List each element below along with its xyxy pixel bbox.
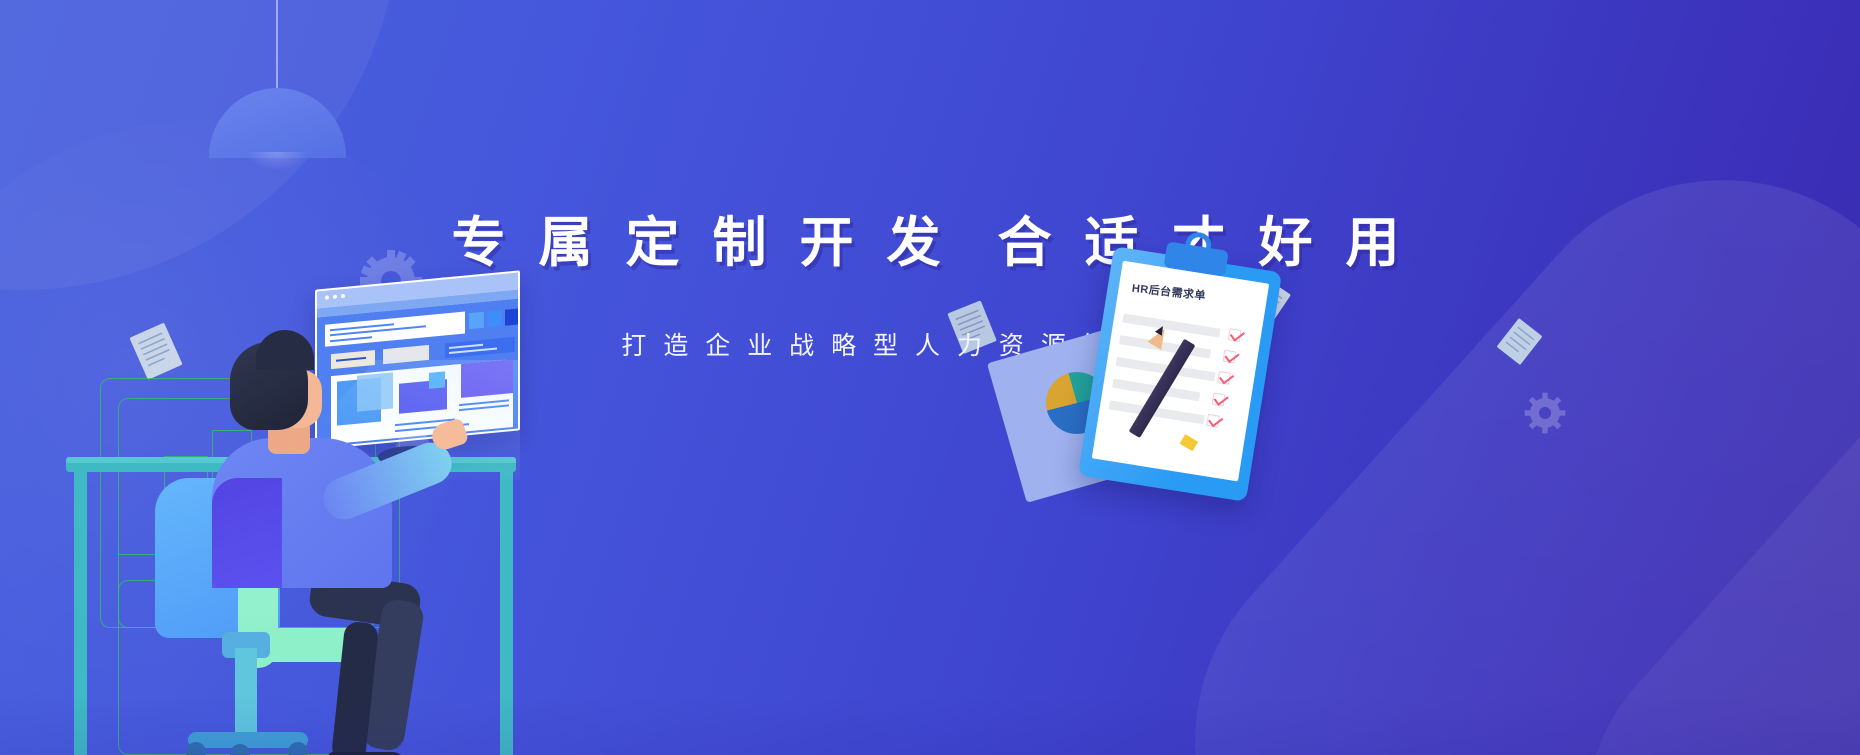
gear-right-icon — [1524, 392, 1566, 434]
clipboard-paper: HR后台需求单 — [1092, 261, 1269, 482]
person-torso-shadow — [212, 478, 282, 588]
checklist-row — [1122, 313, 1220, 337]
document-icon-center — [947, 300, 999, 359]
chair-post — [235, 648, 257, 736]
desk-leg-right — [500, 468, 513, 755]
pencil-ferrule — [1180, 434, 1199, 451]
checklist-row — [1119, 335, 1211, 358]
lamp-glow — [247, 152, 307, 170]
dashboard-tile-3 — [505, 308, 518, 325]
chair-wheel-left — [186, 742, 206, 755]
clipboard-title: HR后台需求单 — [1131, 280, 1256, 309]
clipboard: HR后台需求单 — [1078, 246, 1282, 502]
banner-headline: 专 属 定 制 开 发 合 适 才 好 用 — [451, 212, 1408, 276]
dashboard-tile-2 — [487, 310, 502, 327]
illustration-person-at-desk — [60, 250, 580, 755]
lamp-cord — [276, 0, 278, 92]
chair-wheel-right — [288, 742, 308, 755]
illustration-hr-clipboard: HR后台需求单 — [1000, 268, 1330, 528]
person-hair-top — [256, 330, 314, 370]
person-figure — [160, 282, 480, 612]
hero-banner: 专 属 定 制 开 发 合 适 才 好 用 打 造 企 业 战 略 型 人 力 … — [0, 0, 1860, 755]
desk-leg-left — [74, 468, 87, 755]
